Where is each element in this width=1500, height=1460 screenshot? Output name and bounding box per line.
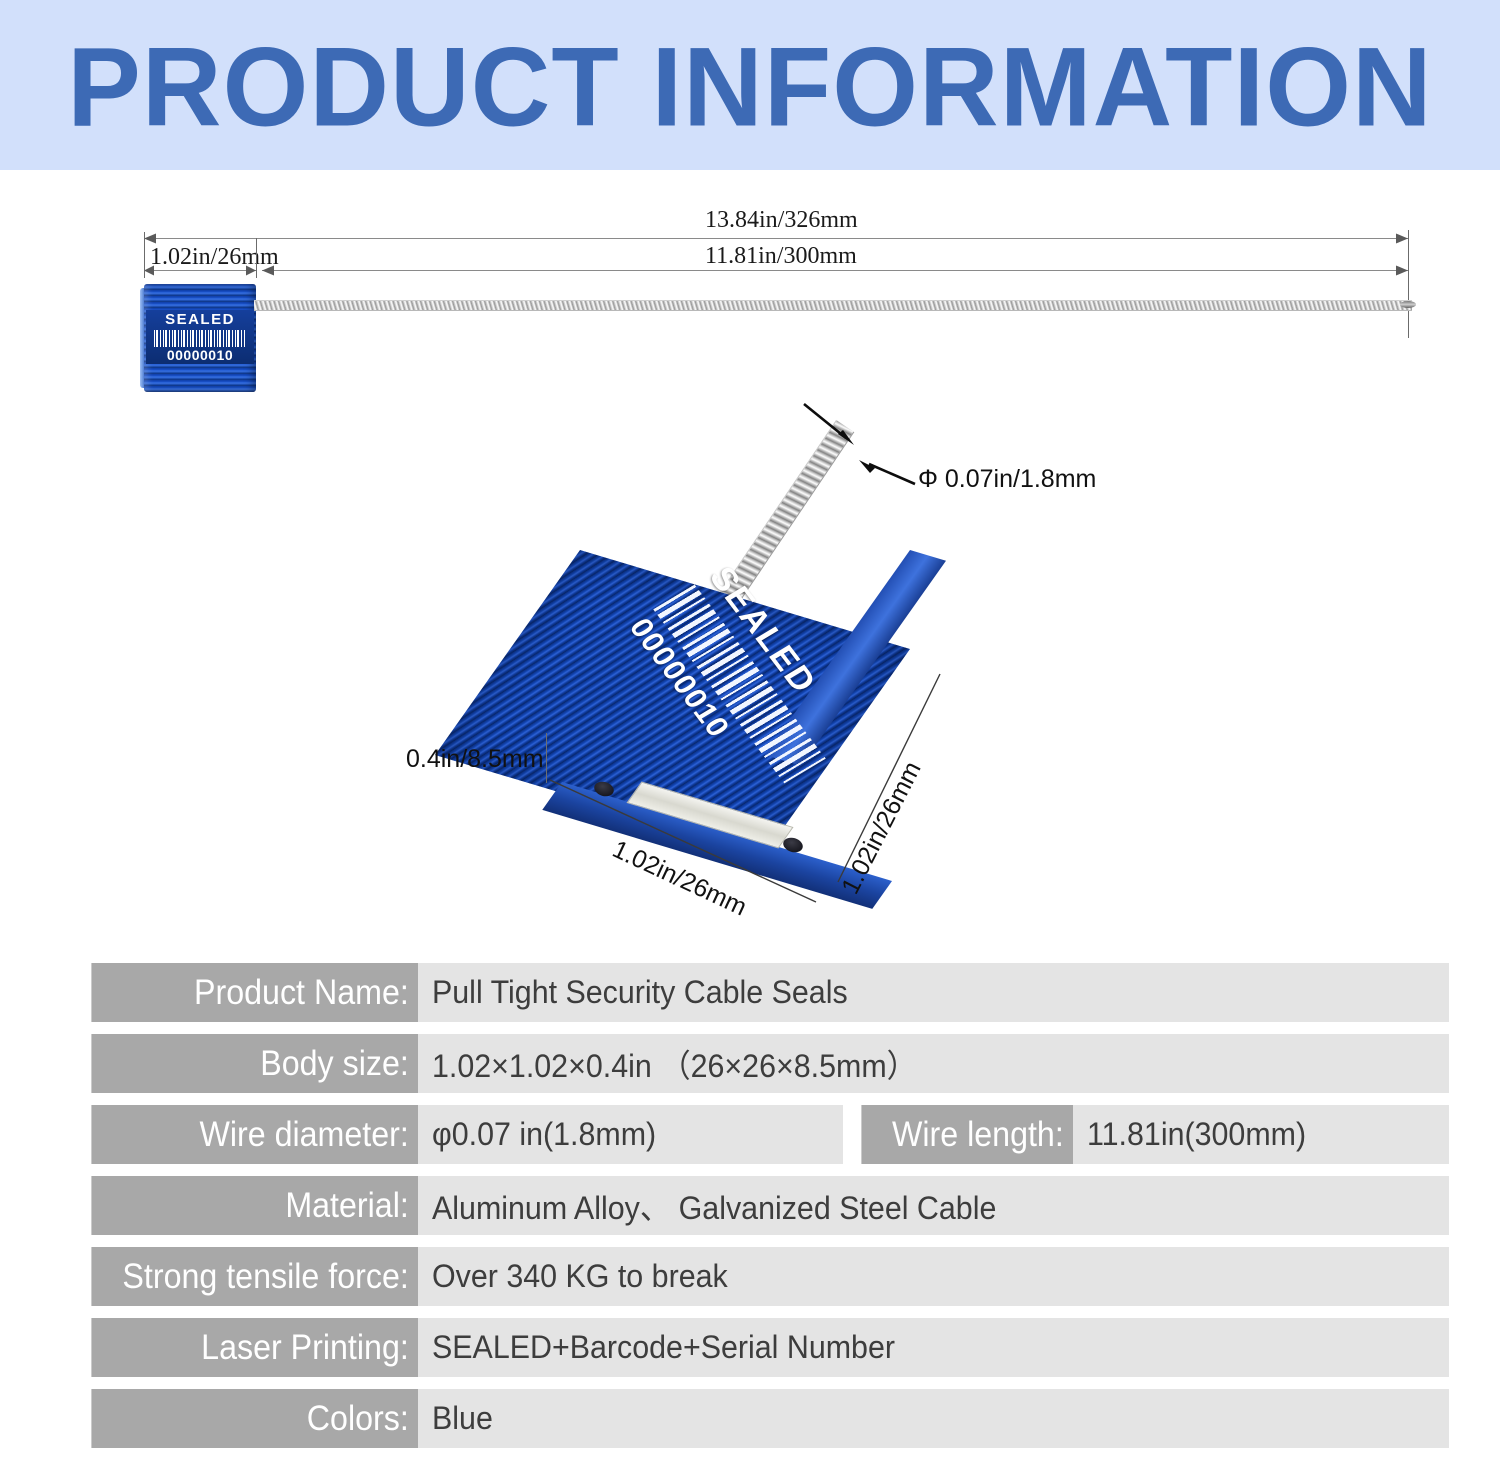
cable-tip — [1400, 301, 1416, 308]
table-row: Laser Printing: SEALED+Barcode+Serial Nu… — [63, 1318, 1449, 1377]
cable-strand-top — [254, 300, 1412, 309]
spec-value-laser-printing: SEALED+Barcode+Serial Number — [418, 1318, 1449, 1377]
spec-value-text: 1.02×1.02×0.4in （26×26×8.5mm） — [432, 1041, 917, 1087]
total-length-arrow-left — [144, 233, 158, 244]
spec-value-text: Aluminum Alloy、 Galvanized Steel Cable — [432, 1183, 996, 1229]
thickness-extension-line — [546, 733, 547, 783]
small-seal-barcode — [154, 330, 246, 347]
extension-line-right — [1408, 230, 1409, 338]
page-title: PRODUCT INFORMATION — [0, 24, 1500, 151]
spec-value-product-name: Pull Tight Security Cable Seals — [418, 963, 1449, 1022]
body-thickness-label: 0.4in/8.5mm — [406, 745, 544, 774]
total-length-label: 13.84in/326mm — [705, 207, 858, 234]
spec-label-body-size: Body size: — [91, 1034, 418, 1093]
spec-value-text: Over 340 KG to break — [432, 1258, 728, 1295]
body-width-arrow-left — [144, 265, 156, 276]
extension-line-left — [144, 232, 145, 278]
wire-diameter-label: Φ 0.07in/1.8mm — [918, 465, 1096, 494]
wire-length-label: 11.81in/300mm — [705, 243, 857, 270]
spec-label-wire-diameter: Wire diameter: — [91, 1105, 418, 1164]
spec-value-text: Pull Tight Security Cable Seals — [432, 974, 848, 1011]
spec-value-wire-diameter: φ0.07 in(1.8mm) — [418, 1105, 843, 1164]
small-seal-body: SEALED 00000010 — [144, 284, 256, 392]
total-length-arrow-right — [1394, 233, 1408, 244]
body-width-dim-line — [144, 270, 256, 271]
extension-line-mid — [256, 238, 257, 278]
wire-length-arrow-right — [1394, 265, 1408, 276]
specification-table: Product Name: Pull Tight Security Cable … — [63, 963, 1449, 1460]
total-length-dim-line — [144, 238, 1408, 239]
body-width-label: 1.02in/26mm — [150, 244, 279, 271]
spec-value-text: φ0.07 in(1.8mm) — [432, 1116, 656, 1153]
spec-value-body-size: 1.02×1.02×0.4in （26×26×8.5mm） — [418, 1034, 1449, 1093]
wire-length-dim-line — [262, 270, 1408, 271]
table-row: Body size: 1.02×1.02×0.4in （26×26×8.5mm） — [63, 1034, 1449, 1093]
spec-label-wire-length: Wire length: — [861, 1105, 1073, 1164]
wire-diameter-arrow-upper — [802, 402, 858, 450]
table-row: Strong tensile force: Over 340 KG to bre… — [63, 1247, 1449, 1306]
table-row: Wire diameter: φ0.07 in(1.8mm) Wire leng… — [63, 1105, 1449, 1164]
header-banner: PRODUCT INFORMATION — [0, 0, 1500, 170]
product-diagram: 13.84in/326mm 11.81in/300mm 1.02in/26mm … — [0, 170, 1500, 945]
spec-value-wire-length: 11.81in(300mm) — [1073, 1105, 1449, 1164]
table-row: Colors: Blue — [63, 1389, 1449, 1448]
spec-value-text: SEALED+Barcode+Serial Number — [432, 1329, 895, 1366]
spec-value-tensile-force: Over 340 KG to break — [418, 1247, 1449, 1306]
small-seal-serial: 00000010 — [144, 347, 256, 363]
small-seal-sealed-text: SEALED — [144, 311, 256, 328]
body-width-arrow-right — [244, 265, 256, 276]
table-row: Material: Aluminum Alloy、 Galvanized Ste… — [63, 1176, 1449, 1235]
spec-value-text: Blue — [432, 1400, 493, 1437]
cable-braid-texture — [254, 300, 1412, 311]
spec-value-colors: Blue — [418, 1389, 1449, 1448]
table-row: Product Name: Pull Tight Security Cable … — [63, 963, 1449, 1022]
spec-label-material: Material: — [91, 1176, 418, 1235]
wire-diameter-arrow-lower — [855, 460, 917, 488]
spec-label-tensile-force: Strong tensile force: — [91, 1247, 418, 1306]
spec-label-product-name: Product Name: — [91, 963, 418, 1022]
spec-label-colors: Colors: — [91, 1389, 418, 1448]
spec-value-material: Aluminum Alloy、 Galvanized Steel Cable — [418, 1176, 1449, 1235]
spec-value-text: 11.81in(300mm) — [1087, 1116, 1306, 1153]
spec-label-laser-printing: Laser Printing: — [91, 1318, 418, 1377]
